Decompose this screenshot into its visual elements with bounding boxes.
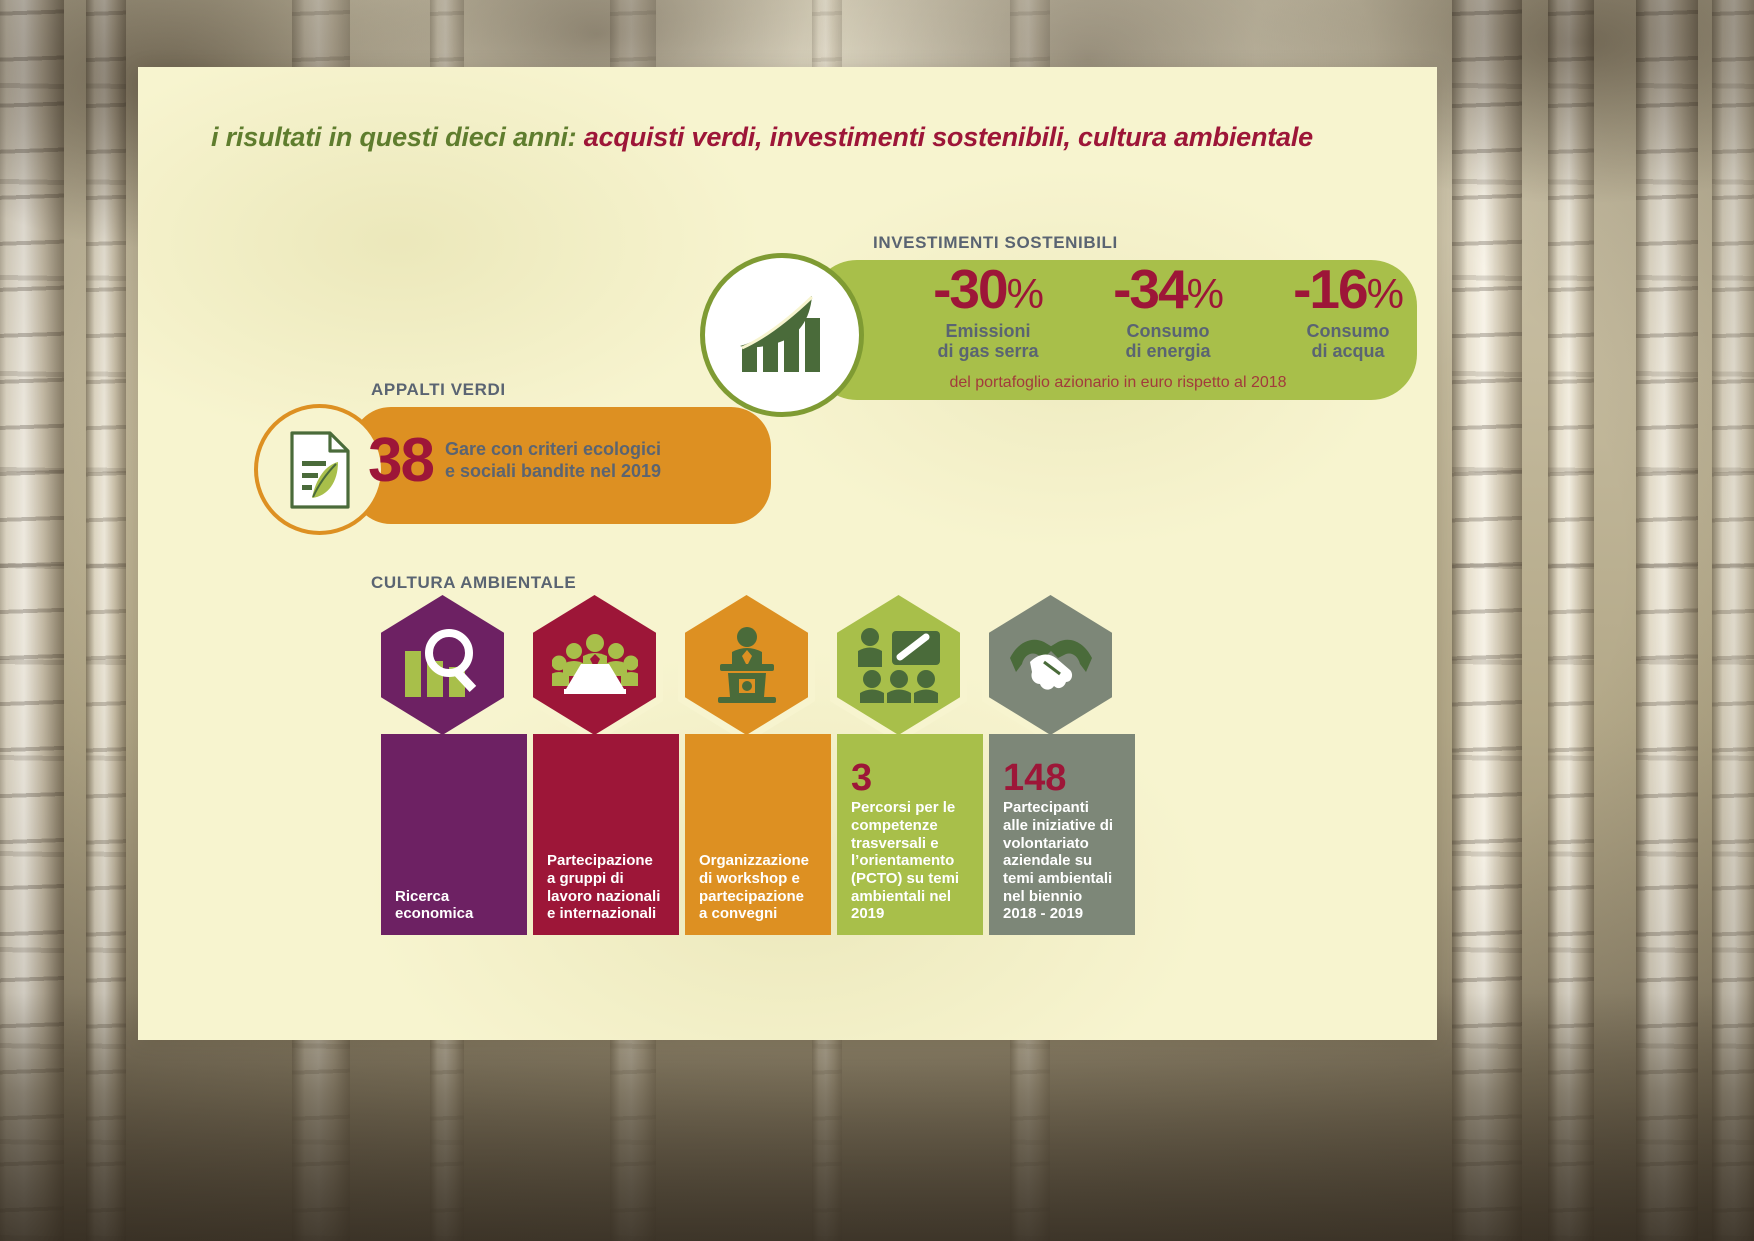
investimenti-note: del portafoglio azionario in euro rispet… [838,374,1398,392]
cultura-text-3: Organizzazione di workshop e partecipazi… [699,852,817,923]
cultura-column-1: Ricerca economica [381,734,527,935]
cultura-text-5: Partecipanti alle iniziative di volontar… [1003,799,1121,923]
section-heading-cultura: CULTURA AMBIENTALE [371,573,576,593]
appalti-number: 38 [368,430,433,492]
stat-acqua-label: Consumo di acqua [1258,321,1438,361]
page-title: i risultati in questi dieci anni: acquis… [211,122,1313,153]
infographic-card: i risultati in questi dieci anni: acquis… [138,67,1437,1040]
stat-emissioni-label: Emissioni di gas serra [898,321,1078,361]
stat-emissioni: -30% Emissioni di gas serra [898,263,1078,361]
stat-acqua: -16% Consumo di acqua [1258,263,1438,361]
cultura-column-2: Partecipazione a gruppi di lavoro nazion… [533,734,679,935]
cultura-items-group: Ricerca economica [371,595,1361,1005]
document-leaf-icon [286,430,354,510]
meeting-table-people-icon [552,634,638,696]
cultura-text-2: Partecipazione a gruppi di lavoro nazion… [547,852,665,923]
magnifier-bar-chart-icon [401,627,485,703]
cultura-column-5: 148 Partecipanti alle iniziative di volo… [989,734,1135,935]
stat-emissioni-value: -30% [898,263,1078,317]
page-title-highlight: acquisti verdi, investimenti sostenibili… [584,122,1313,152]
stat-energia: -34% Consumo di energia [1078,263,1258,361]
section-heading-appalti: APPALTI VERDI [371,380,506,400]
cultura-number-5: 148 [1003,759,1121,797]
section-heading-investimenti: INVESTIMENTI SOSTENIBILI [873,233,1118,253]
appalti-icon-badge [254,404,385,535]
cultura-column-4: 3 Percorsi per le competenze trasversali… [837,734,983,935]
appalti-label: Gare con criteri ecologici e sociali ban… [445,439,661,482]
stat-energia-value: -34% [1078,263,1258,317]
cultura-column-3: Organizzazione di workshop e partecipazi… [685,734,831,935]
investimenti-icon-badge [700,253,864,417]
cultura-text-1: Ricerca economica [395,888,513,923]
appalti-content: 38 Gare con criteri ecologici e sociali … [368,430,661,492]
cultura-text-4: Percorsi per le competenze trasversali e… [851,799,969,923]
page-title-lead: i risultati in questi dieci anni: [211,122,576,152]
speaker-podium-icon [706,627,788,703]
investimenti-stats-row: -30% Emissioni di gas serra -34% Consumo… [898,263,1438,375]
handshake-icon [1008,632,1094,698]
growth-chart-leaf-icon [736,294,828,376]
stat-acqua-value: -16% [1258,263,1438,317]
cultura-number-4: 3 [851,759,969,797]
stat-energia-label: Consumo di energia [1078,321,1258,361]
teacher-blackboard-classroom-icon [856,627,942,703]
